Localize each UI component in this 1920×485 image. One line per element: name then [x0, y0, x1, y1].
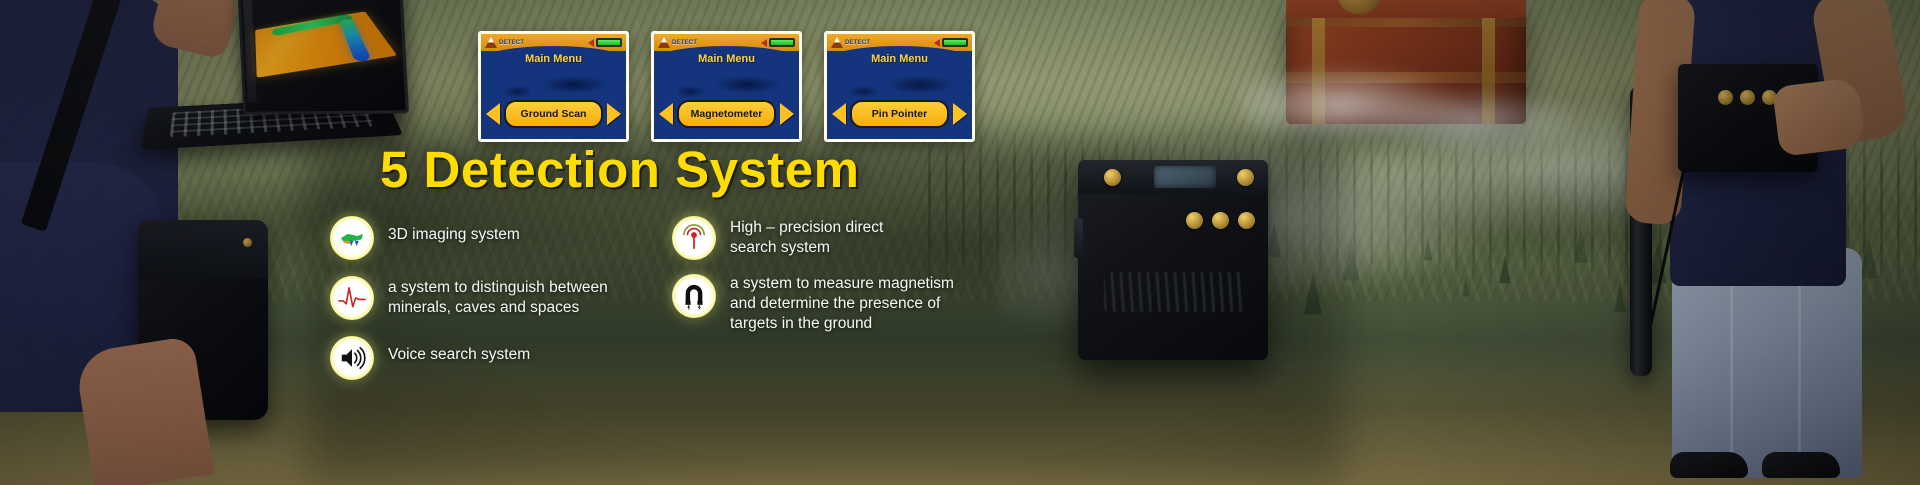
3d-scan-icon — [330, 216, 374, 260]
detector-port — [1186, 212, 1203, 229]
device-menu-card[interactable]: DETECTMain MenuMagnetometer — [651, 31, 802, 142]
feature-label: a system to distinguish between minerals… — [388, 276, 608, 318]
detector-case-body — [1078, 160, 1268, 360]
feature-list-left: 3D imaging systema system to distinguish… — [330, 216, 690, 380]
bag-flap — [138, 220, 268, 278]
feature-item: a system to measure magnetism and determ… — [672, 274, 1022, 334]
treasure-chest — [1276, 0, 1542, 148]
previous-mode-arrow-icon[interactable] — [659, 103, 673, 125]
feature-label: High – precision direct search system — [730, 216, 883, 258]
mountain-logo-icon — [831, 37, 843, 48]
radio-waves-target-icon — [672, 216, 716, 260]
detector-knob — [1104, 169, 1121, 186]
previous-mode-arrow-icon[interactable] — [832, 103, 846, 125]
battery-indicator — [588, 38, 622, 47]
chest-mist — [1240, 40, 1580, 170]
feature-label: Voice search system — [388, 336, 530, 365]
mode-selector: Ground Scan — [486, 100, 621, 128]
device-menu-card[interactable]: DETECTMain MenuPin Pointer — [824, 31, 975, 142]
battery-indicator — [761, 38, 795, 47]
battery-icon — [769, 38, 795, 47]
tree-icon — [1499, 255, 1510, 283]
mode-label[interactable]: Pin Pointer — [850, 100, 949, 128]
detector-case-top — [1078, 160, 1268, 194]
chest-lock-ornament — [1338, 0, 1380, 14]
horseshoe-magnet-icon — [672, 274, 716, 318]
battery-indicator — [934, 38, 968, 47]
detector-latch — [1074, 218, 1083, 258]
mountain-logo-icon — [658, 37, 670, 48]
laptop — [146, 0, 396, 156]
feature-item: High – precision direct search system — [672, 216, 1022, 260]
detector-knob — [1237, 169, 1254, 186]
control-unit-knob — [1718, 90, 1733, 105]
device-status-bar: DETECT — [481, 34, 626, 51]
page-title: 5 Detection System — [380, 140, 860, 199]
brand-logo: DETECT — [658, 37, 697, 48]
detector-case — [1078, 160, 1268, 360]
feature-list-right: High – precision direct search systema s… — [672, 216, 1022, 334]
battery-fill — [598, 40, 620, 45]
feature-item: a system to distinguish between minerals… — [330, 276, 690, 320]
speaker-icon — [588, 39, 594, 47]
tree-icon — [1304, 272, 1322, 315]
mode-label[interactable]: Ground Scan — [504, 100, 603, 128]
battery-fill — [944, 40, 966, 45]
person-left-arm — [74, 335, 214, 485]
person-right-shoe — [1670, 452, 1748, 478]
control-unit-knob — [1740, 90, 1755, 105]
device-status-bar: DETECT — [654, 34, 799, 51]
person-right-shoe — [1762, 452, 1840, 478]
person-right-hand — [1772, 77, 1866, 157]
detector-embossed-logo — [1104, 272, 1244, 312]
previous-mode-arrow-icon[interactable] — [486, 103, 500, 125]
tree-icon — [1424, 240, 1432, 260]
tree-icon — [1342, 238, 1360, 281]
device-status-bar: DETECT — [827, 34, 972, 51]
mode-selector: Pin Pointer — [832, 100, 967, 128]
bag-stud — [243, 238, 252, 247]
brand-logo: DETECT — [485, 37, 524, 48]
waveform-pulse-icon — [330, 276, 374, 320]
next-mode-arrow-icon[interactable] — [780, 103, 794, 125]
device-menu-cards: DETECTMain MenuGround ScanDETECTMain Men… — [478, 31, 975, 142]
device-menu-title: Main Menu — [827, 53, 972, 65]
next-mode-arrow-icon[interactable] — [607, 103, 621, 125]
scan-blue-target — [339, 19, 372, 62]
mode-label[interactable]: Magnetometer — [677, 100, 776, 128]
detector-port — [1238, 212, 1255, 229]
tree-icon — [1267, 222, 1282, 257]
device-menu-title: Main Menu — [481, 53, 626, 65]
device-menu-title: Main Menu — [654, 53, 799, 65]
mountain-logo-icon — [485, 37, 497, 48]
brand-wordmark: DETECT — [672, 40, 697, 46]
speaker-volume-icon — [330, 336, 374, 380]
tree-icon — [1462, 276, 1470, 296]
person-right — [1626, 0, 1920, 485]
feature-item: Voice search system — [330, 336, 690, 380]
laptop-screen — [238, 0, 409, 115]
laptop-toolbar — [243, 0, 257, 102]
speaker-icon — [934, 39, 940, 47]
mode-selector: Magnetometer — [659, 100, 794, 128]
brand-wordmark: DETECT — [499, 40, 524, 46]
scan-3d-visualization — [255, 11, 397, 77]
detector-port — [1212, 212, 1229, 229]
battery-fill — [771, 40, 793, 45]
brand-wordmark: DETECT — [845, 40, 870, 46]
feature-item: 3D imaging system — [330, 216, 690, 260]
battery-icon — [942, 38, 968, 47]
battery-icon — [596, 38, 622, 47]
tree-icon — [1574, 227, 1589, 262]
next-mode-arrow-icon[interactable] — [953, 103, 967, 125]
brand-logo: DETECT — [831, 37, 870, 48]
detector-display — [1154, 166, 1216, 188]
speaker-icon — [761, 39, 767, 47]
feature-label: a system to measure magnetism and determ… — [730, 274, 954, 334]
device-menu-card[interactable]: DETECTMain MenuGround Scan — [478, 31, 629, 142]
feature-label: 3D imaging system — [388, 216, 520, 245]
detector-promo-banner: DETECTMain MenuGround ScanDETECTMain Men… — [0, 0, 1920, 485]
tree-icon — [1614, 284, 1625, 312]
chest-lid — [1286, 0, 1526, 18]
